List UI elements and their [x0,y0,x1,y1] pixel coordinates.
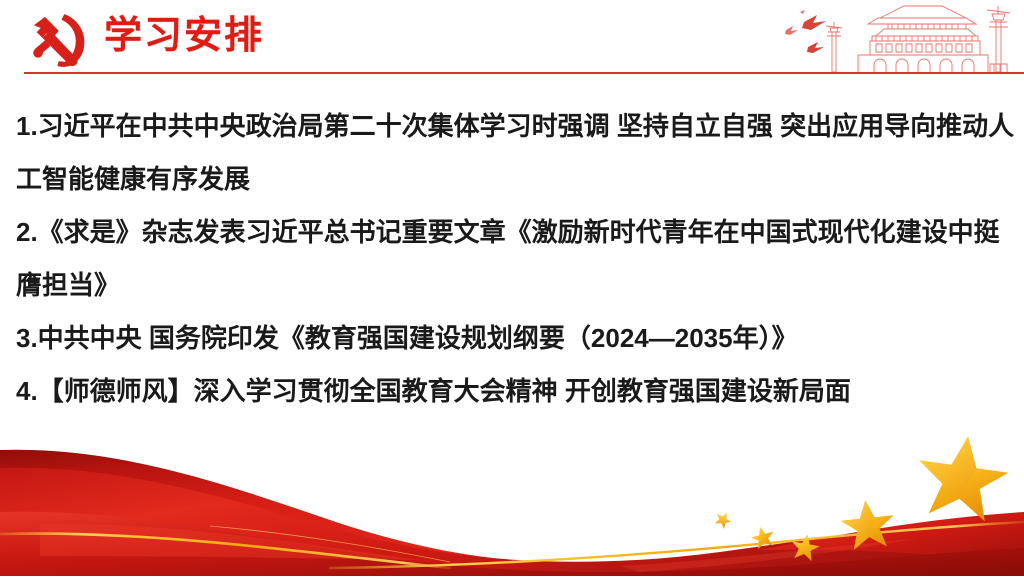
study-schedule-list: 1.习近平在中共中央政治局第二十次集体学习时强调 坚持自立自强 突出应用导向推动… [16,100,1021,418]
tiananmen-gate-icon [774,2,1024,74]
page-header: 学习安排 [0,0,1024,80]
red-silk-ribbon-icon [0,416,1024,576]
hammer-and-sickle-icon [20,10,92,68]
list-item: 2.《求是》杂志发表习近平总书记重要文章《激励新时代青年在中国式现代化建设中挺膺… [16,206,1021,312]
list-item: 4.【师德师风】深入学习贯彻全国教育大会精神 开创教育强国建设新局面 [16,365,1021,418]
list-item: 1.习近平在中共中央政治局第二十次集体学习时强调 坚持自立自强 突出应用导向推动… [16,100,1021,206]
header-divider [24,72,1024,74]
list-item: 3.中共中央 国务院印发《教育强国建设规划纲要（2024—2035年）》 [16,312,1021,365]
page-title: 学习安排 [104,12,264,60]
